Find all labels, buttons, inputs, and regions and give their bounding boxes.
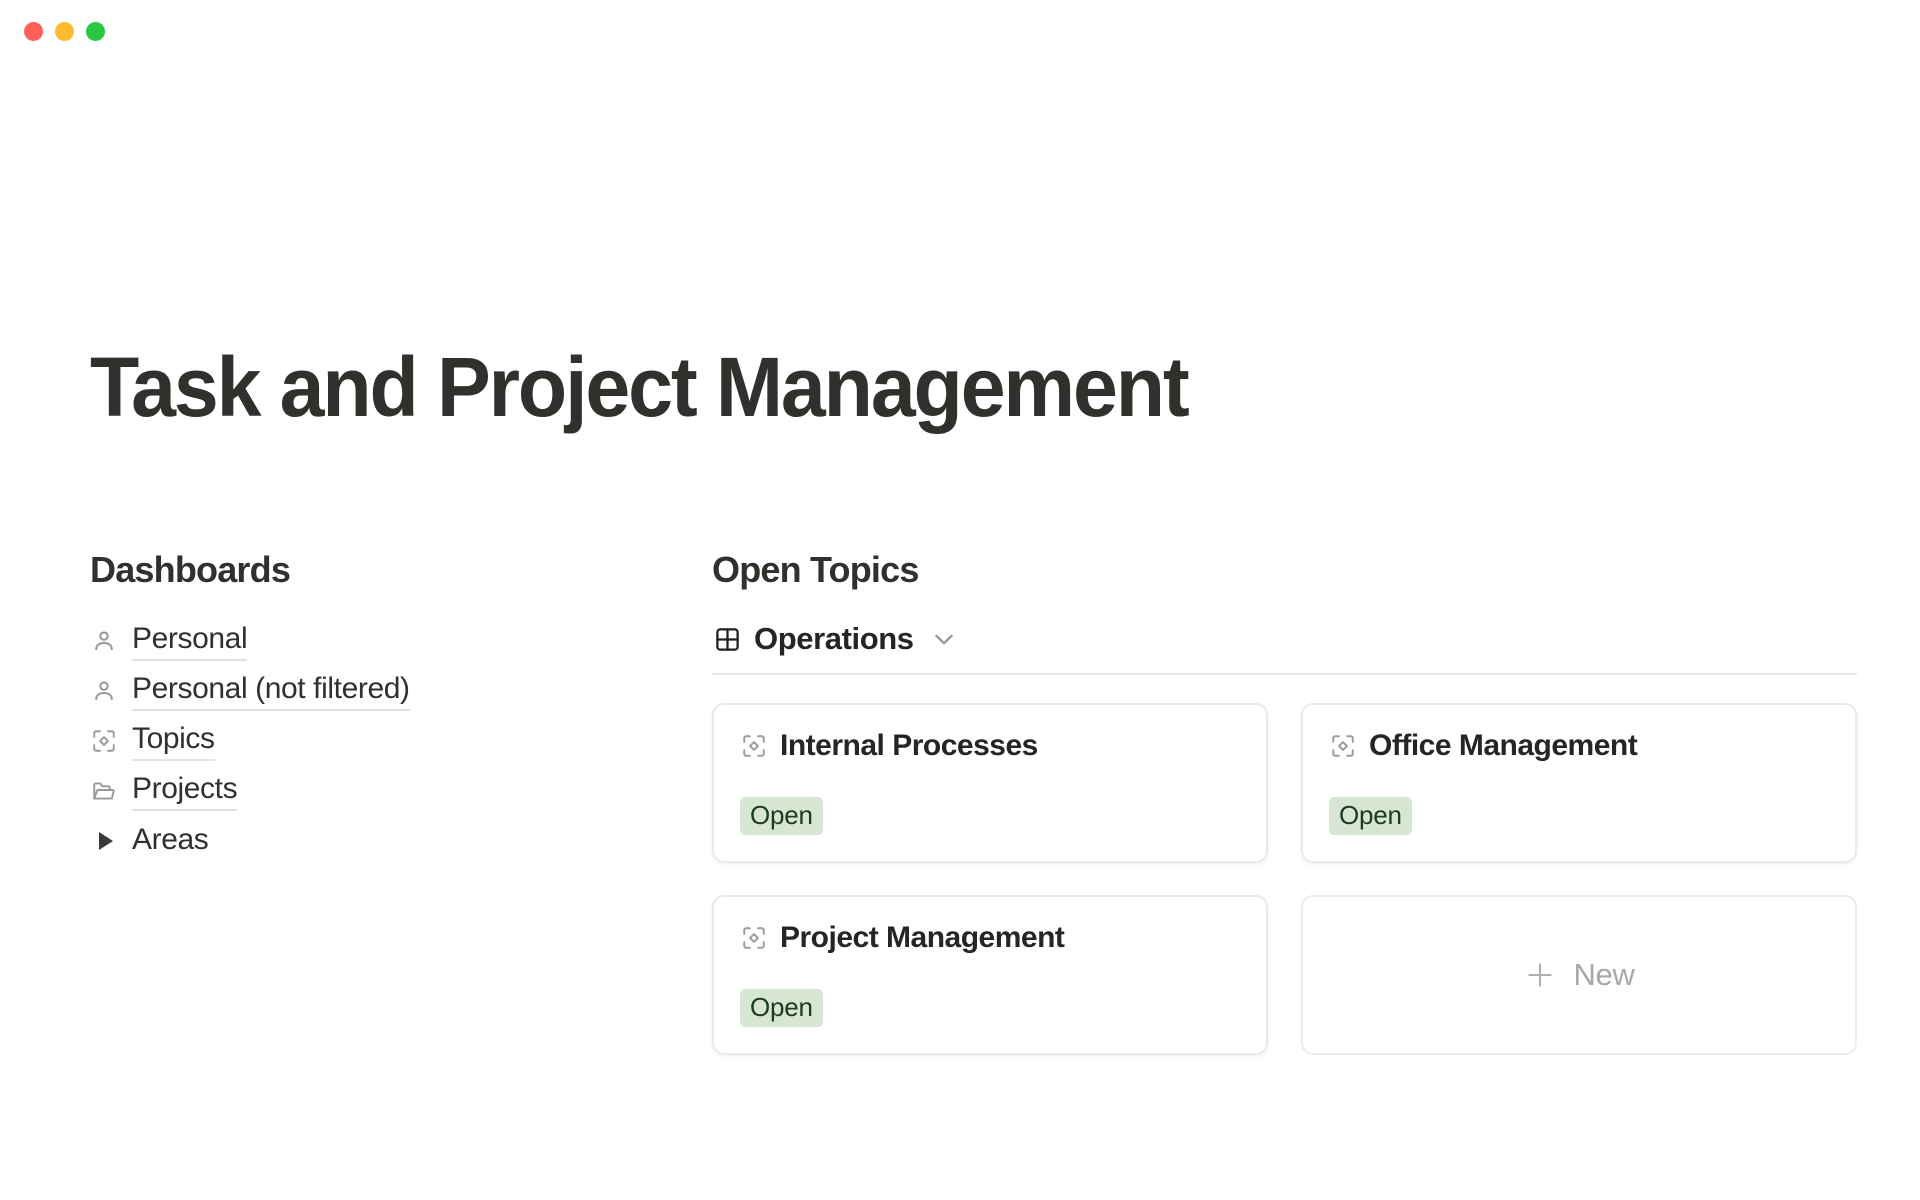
new-topic-card[interactable]: New [1301, 895, 1857, 1055]
card-title: Office Management [1369, 729, 1637, 763]
topic-card[interactable]: Internal Processes Open [712, 703, 1268, 863]
sidebar-item-projects[interactable]: Projects [90, 766, 650, 816]
dashboards-list: Personal Personal (not filtered) [90, 616, 650, 866]
open-topics-heading: Open Topics [712, 549, 1857, 591]
person-icon [90, 677, 118, 705]
sidebar-item-label: Personal (not filtered) [132, 671, 410, 711]
minimize-button[interactable] [55, 22, 74, 41]
sidebar-item-label: Personal [132, 621, 247, 661]
card-title: Project Management [780, 921, 1064, 955]
sidebar-item-personal[interactable]: Personal [90, 616, 650, 666]
chevron-down-icon[interactable] [930, 625, 958, 653]
page-content: Task and Project Management Dashboards P… [0, 62, 1920, 1200]
page-title: Task and Project Management [90, 343, 1188, 431]
open-topics-column: Open Topics Operations [712, 549, 1857, 1055]
person-icon [90, 627, 118, 655]
topics-card-grid: Internal Processes Open [712, 703, 1857, 1055]
traffic-light-group [24, 22, 105, 41]
database-selector-operations[interactable]: Operations [712, 617, 1857, 661]
topic-card[interactable]: Office Management Open [1301, 703, 1857, 863]
status-badge: Open [740, 989, 823, 1027]
card-title: Internal Processes [780, 729, 1038, 763]
sidebar-item-topics[interactable]: Topics [90, 716, 650, 766]
focus-target-icon [1329, 732, 1357, 760]
focus-target-icon [740, 924, 768, 952]
sidebar-item-label: Areas [132, 822, 208, 860]
database-name: Operations [754, 621, 914, 657]
close-button[interactable] [24, 22, 43, 41]
open-folder-icon [90, 777, 118, 805]
dashboards-heading: Dashboards [90, 549, 650, 591]
topic-card[interactable]: Project Management Open [712, 895, 1268, 1055]
window-titlebar [0, 0, 1920, 62]
sidebar-item-label: Projects [132, 771, 237, 811]
plus-icon [1523, 958, 1557, 992]
card-header: Internal Processes [740, 729, 1240, 763]
section-divider [712, 673, 1857, 675]
focus-target-icon [740, 732, 768, 760]
new-card-label: New [1573, 957, 1634, 993]
card-header: Project Management [740, 921, 1240, 955]
dashboards-column: Dashboards Personal [90, 549, 650, 866]
maximize-button[interactable] [86, 22, 105, 41]
triangle-right-icon[interactable] [90, 827, 118, 855]
table-grid-icon [712, 624, 742, 654]
sidebar-item-personal-not-filtered[interactable]: Personal (not filtered) [90, 666, 650, 716]
sidebar-item-areas[interactable]: Areas [90, 816, 650, 866]
status-badge: Open [1329, 797, 1412, 835]
card-header: Office Management [1329, 729, 1829, 763]
sidebar-item-label: Topics [132, 721, 215, 761]
focus-target-icon [90, 727, 118, 755]
status-badge: Open [740, 797, 823, 835]
